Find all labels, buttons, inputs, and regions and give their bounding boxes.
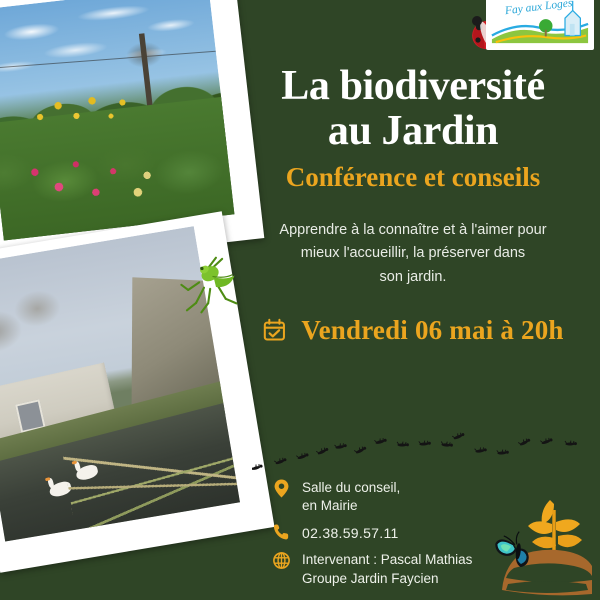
venue-line-2: en Mairie (302, 498, 358, 513)
description-line-2: mieux l'accueillir, la préserver dans (301, 245, 525, 261)
title-line-2: au Jardin (328, 108, 498, 154)
title-line-1: La biodiversité (281, 63, 545, 109)
sprout-emblem (488, 494, 596, 598)
description-line-3: son jardin. (380, 269, 447, 285)
sprout-leaves (528, 500, 582, 556)
content-column: La biodiversité au Jardin Conférence et … (238, 64, 588, 346)
fay-aux-loges-logo: Fay aux Loges (486, 0, 594, 50)
venue-text: Salle du conseil, en Mairie (302, 478, 400, 515)
logo-artwork: Fay aux Loges (489, 0, 591, 47)
poster-canvas: Fay aux Loges La biodiversité au Jardin … (0, 0, 600, 600)
event-date-text: Vendredi 06 mai à 20h (301, 315, 563, 346)
location-pin-icon (272, 478, 291, 499)
speaker-text: Intervenant : Pascal Mathias Groupe Jard… (302, 550, 472, 587)
page-title: La biodiversité au Jardin (238, 64, 588, 153)
speaker-line-2: Groupe Jardin Faycien (302, 571, 439, 586)
photo-garden-image (0, 0, 234, 240)
event-date-row: Vendredi 06 mai à 20h (238, 315, 588, 346)
phone-number: 02.38.59.57.11 (302, 522, 399, 543)
roses (12, 135, 159, 229)
praying-mantis-icon (156, 252, 248, 323)
logo-script-text: Fay aux Loges (503, 0, 573, 17)
calendar-check-icon (262, 317, 289, 344)
globe-icon (272, 550, 291, 571)
ant-trail (252, 424, 588, 478)
page-subtitle: Conférence et conseils (238, 163, 588, 193)
venue-line-1: Salle du conseil, (302, 480, 400, 495)
soil-mound (502, 550, 592, 596)
phone-icon (272, 522, 291, 543)
description-text: Apprendre à la connaître et à l'aimer po… (238, 219, 588, 289)
description-line-1: Apprendre à la connaître et à l'aimer po… (279, 222, 546, 238)
speaker-line-1: Intervenant : Pascal Mathias (302, 552, 472, 567)
